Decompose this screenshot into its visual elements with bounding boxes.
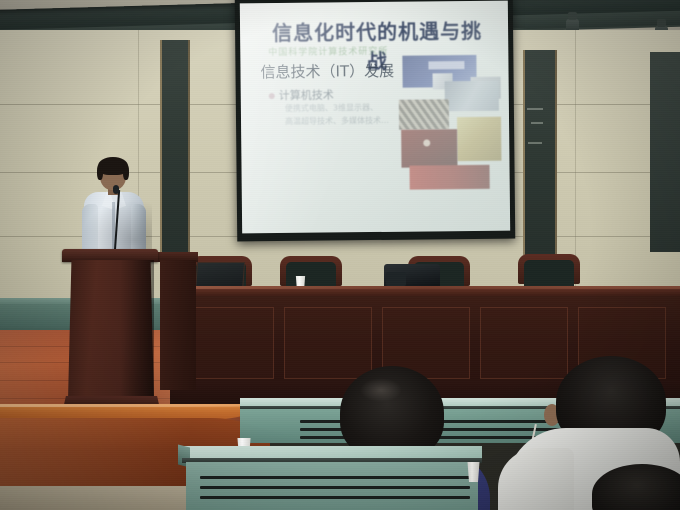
collage-image <box>399 99 449 130</box>
slide-image-collage <box>398 55 507 188</box>
table-panel <box>186 307 274 379</box>
slide-heading: 信息技术（IT）发展 <box>260 60 394 82</box>
secondary-lectern <box>160 260 196 390</box>
collage-image <box>445 81 499 112</box>
collage-image-detail <box>428 61 464 69</box>
table-panel <box>284 307 372 379</box>
presenter-hair-side <box>123 164 129 180</box>
hair-highlight <box>360 378 402 402</box>
projection-screen-frame: 信息化时代的机遇与挑战 中国科学院计算技术研究所 信息技术（IT）发展 计算机技… <box>235 0 516 241</box>
collage-image <box>410 165 490 190</box>
wall-dark-panel-far-right <box>650 52 680 252</box>
slide-sub-item-1: 便携式电脑、3维显示器、 <box>285 102 378 114</box>
collage-image-detail <box>423 139 430 146</box>
table-panel <box>480 307 568 379</box>
microphone-icon <box>113 185 119 194</box>
presenter-hair-side <box>97 164 103 180</box>
collage-image <box>401 129 457 168</box>
chair <box>518 254 580 290</box>
bullet-dot-icon <box>269 93 275 99</box>
slide-bullet-item: 计算机技术 <box>269 86 334 103</box>
photo-scene: 信息化时代的机遇与挑战 中国科学院计算技术研究所 信息技术（IT）发展 计算机技… <box>0 0 680 510</box>
lectern-shading <box>120 260 154 400</box>
desk-rail <box>200 476 470 479</box>
projector-equipment-detail <box>386 272 406 286</box>
projection-screen: 信息化时代的机遇与挑战 中国科学院计算技术研究所 信息技术（IT）发展 计算机技… <box>240 1 510 234</box>
stage-edge-highlight <box>0 404 270 407</box>
wall-dark-panel-left <box>160 40 190 255</box>
audience-member-white-shirt-arm <box>498 448 574 510</box>
desk-rail <box>200 496 470 499</box>
wall-dark-panel-right <box>523 50 557 255</box>
head-table-edge-highlight <box>170 286 680 289</box>
desk-rail <box>200 486 470 489</box>
collage-image <box>457 117 501 161</box>
hall-floor <box>0 486 210 510</box>
slide-sub-item-2: 高温超导技术、多媒体技术… <box>285 115 389 127</box>
slide-bullet-label: 计算机技术 <box>279 88 334 102</box>
